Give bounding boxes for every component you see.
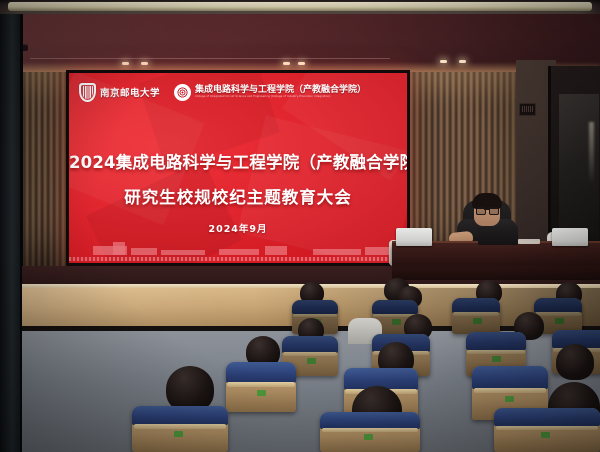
seat-cushion (466, 332, 526, 350)
laptop-center[interactable] (478, 226, 518, 245)
college-name-block: 集成电路科学与工程学院（产教融合学院） College of Integrate… (195, 85, 366, 99)
seat-rim (453, 312, 499, 316)
seat-rim (535, 312, 581, 316)
university-name: 南京邮电大学 (100, 85, 160, 99)
campus-skyline-graphic (69, 237, 407, 263)
seat-cushion (292, 300, 338, 314)
seat-cushion (534, 298, 582, 313)
skyline-block-6 (265, 246, 287, 255)
college-emblem-icon (174, 84, 191, 101)
seat-rim (293, 314, 337, 317)
seat-rim (283, 352, 337, 356)
banner-title-block: 2024集成电路科学与工程学院（产教融合学院） 研究生校规校纪主题教育大会 (69, 149, 407, 208)
seat-number-tag (364, 434, 373, 440)
door-light-reflection (589, 122, 594, 184)
university-seal-icon (79, 83, 96, 102)
seat-number-tag (492, 356, 501, 362)
seat-rim (474, 388, 547, 393)
auditorium-seat[interactable] (452, 298, 500, 334)
wall-seam (30, 58, 390, 59)
laptop-right[interactable] (552, 228, 588, 246)
wall-speaker-icon (519, 103, 536, 116)
lecture-hall-photo: 南京邮电大学 集成电路科学与工程学院（产教融合学院） College of In… (0, 0, 600, 452)
banner-date: 2024年9月 (69, 221, 407, 235)
led-screen-frame: 南京邮电大学 集成电路科学与工程学院（产教融合学院） College of In… (66, 70, 410, 266)
table-front-face (392, 266, 600, 280)
seat-rim (496, 426, 598, 430)
seat-number-tag (392, 319, 401, 325)
skyline-block-7 (313, 249, 361, 255)
left-pillar (0, 14, 22, 452)
seat-cushion (452, 298, 500, 313)
led-screen: 南京邮电大学 集成电路科学与工程学院（产教融合学院） College of In… (69, 73, 407, 263)
seat-cushion (372, 300, 418, 314)
college-name-cn: 集成电路科学与工程学院（产教融合学院） (195, 85, 366, 95)
seat-cushion (226, 362, 296, 383)
seat-rim (322, 428, 418, 432)
banner-title-line-2: 研究生校规校纪主题教育大会 (69, 184, 407, 208)
seat-number-tag (307, 358, 316, 364)
seat-cushion (472, 366, 548, 389)
seat-cushion (282, 336, 338, 353)
skyline-block-4 (161, 250, 205, 255)
seat-cushion (320, 412, 420, 429)
seat-rim (467, 350, 525, 354)
auditorium-seat[interactable] (494, 408, 600, 452)
seat-cushion (494, 408, 600, 426)
auditorium-seat[interactable] (226, 362, 296, 412)
presenter-papers (518, 239, 540, 244)
skyline-block-5 (219, 249, 259, 255)
glasses-lens-right (489, 207, 499, 215)
glasses-icon (476, 207, 498, 213)
seat-number-tag (505, 396, 514, 402)
seat-cushion (132, 406, 228, 425)
seat-number-tag (473, 318, 482, 324)
skyline-block-2 (113, 242, 125, 255)
presenter-table (392, 243, 600, 267)
skyline-block-3 (131, 248, 157, 255)
college-name-en: College of Integrated Circuit Science an… (195, 95, 366, 99)
ceiling-light-strip (8, 2, 592, 11)
auditorium-seat[interactable] (132, 406, 228, 452)
laptop-left[interactable] (396, 228, 432, 246)
auditorium-seat[interactable] (320, 412, 420, 452)
wood-slat-panel-left (18, 72, 68, 280)
seat-rim (227, 382, 294, 387)
banner-title-line-1: 2024集成电路科学与工程学院（产教融合学院） (69, 149, 407, 173)
skyline-base (69, 257, 407, 261)
seat-number-tag (555, 318, 564, 324)
seat-rim (134, 424, 226, 429)
seat-number-tag (174, 431, 183, 437)
attendee-head (556, 344, 594, 380)
seat-number-tag (257, 390, 266, 396)
seat-number-tag (541, 432, 550, 438)
banner-logo-row: 南京邮电大学 集成电路科学与工程学院（产教融合学院） College of In… (69, 80, 407, 104)
